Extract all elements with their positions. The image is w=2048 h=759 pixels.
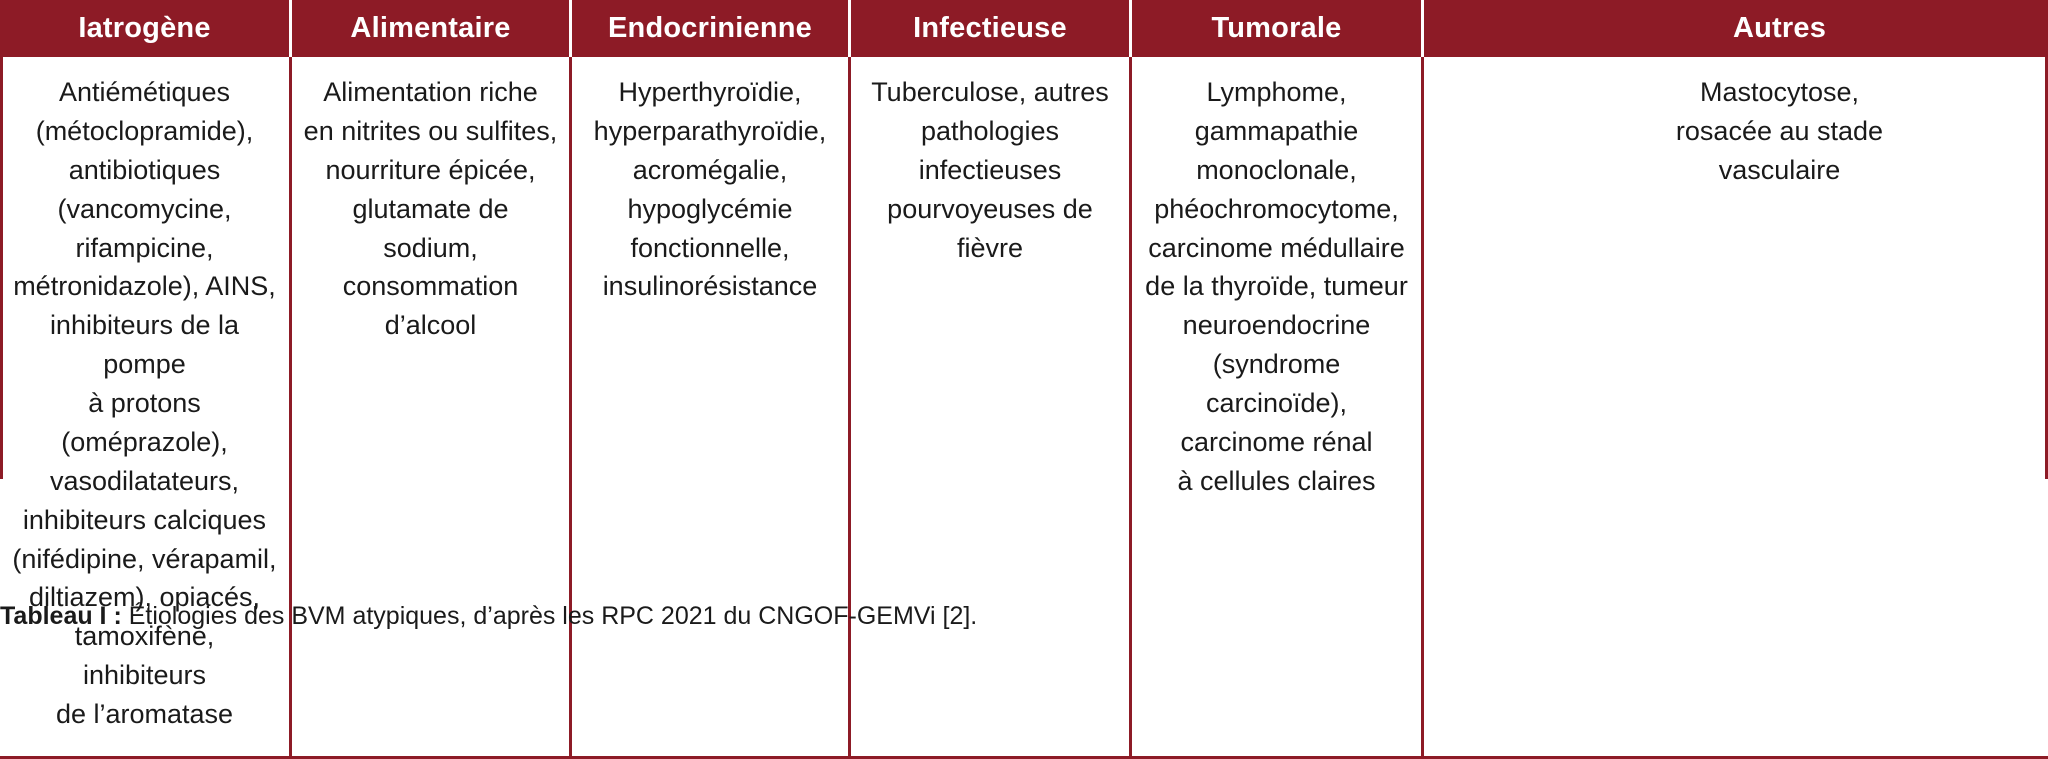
caption-text: Étiologies des BVM atypiques, d’après le… — [122, 602, 977, 630]
cell-alimentaire: Alimentation riche en nitrites ou sulfit… — [291, 57, 571, 757]
column-header-autres: Autres — [1423, 0, 2048, 57]
table-caption: Tableau I : Étiologies des BVM atypiques… — [0, 600, 2048, 633]
column-header-iatrogene: Iatrogène — [0, 0, 291, 57]
etiologies-table-wrapper: Iatrogène Alimentaire Endocrinienne Infe… — [0, 0, 2048, 759]
column-header-tumorale: Tumorale — [1131, 0, 1423, 57]
table-body: Antiémétiques (métoclopramide), antibiot… — [0, 57, 2048, 757]
table-header-row-group: Iatrogène Alimentaire Endocrinienne Infe… — [0, 0, 2048, 57]
table-row: Antiémétiques (métoclopramide), antibiot… — [0, 57, 2048, 757]
caption-label: Tableau I : — [0, 602, 122, 630]
cell-endocrinienne: Hyperthyroïdie, hyperparathyroïdie, acro… — [571, 57, 850, 757]
column-header-endocrinienne: Endocrinienne — [571, 0, 850, 57]
column-header-infectieuse: Infectieuse — [850, 0, 1131, 57]
cell-infectieuse: Tuberculose, autres pathologies infectie… — [850, 57, 1131, 757]
table-left-border — [0, 57, 3, 479]
column-header-alimentaire: Alimentaire — [291, 0, 571, 57]
cell-iatrogene: Antiémétiques (métoclopramide), antibiot… — [0, 57, 291, 757]
table-page: Iatrogène Alimentaire Endocrinienne Infe… — [0, 0, 2048, 687]
etiologies-table: Iatrogène Alimentaire Endocrinienne Infe… — [0, 0, 2048, 759]
table-header-row: Iatrogène Alimentaire Endocrinienne Infe… — [0, 0, 2048, 57]
cell-autres: Mastocytose, rosacée au stade vasculaire — [1423, 57, 2048, 757]
cell-tumorale: Lymphome, gammapathie monoclonale, phéoc… — [1131, 57, 1423, 757]
